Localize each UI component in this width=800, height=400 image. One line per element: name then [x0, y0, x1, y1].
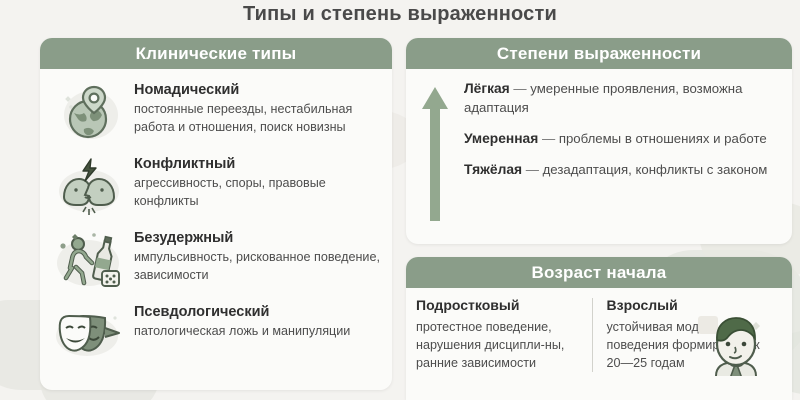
type-name: Псевдологический: [134, 303, 382, 322]
severity-name: Лёгкая: [464, 81, 510, 96]
severity-header: Степени выраженности: [406, 38, 792, 69]
list-item: Псевдологический патологическая ложь и м…: [50, 297, 382, 371]
clinical-types-header: Клинические типы: [40, 38, 392, 69]
age-of-onset-card: Возраст начала Подростковый протестное п…: [406, 257, 792, 400]
type-description: патологическая ложь и манипуляции: [134, 323, 382, 341]
list-item: Лёгкая — умеренные проявления, возможна …: [464, 79, 780, 117]
age-column-title: Подростковый: [416, 296, 582, 315]
theater-masks-icon: [52, 301, 126, 367]
severity-dash: —: [526, 162, 539, 177]
list-item: Безудержный импульсивность, рискованное …: [50, 223, 382, 297]
list-item: Конфликтный агрессивность, споры, правов…: [50, 149, 382, 223]
arguing-heads-icon: [52, 153, 126, 219]
age-of-onset-body: Подростковый протестное поведение, наруш…: [406, 288, 792, 372]
severity-description: проблемы в отношениях и работе: [559, 131, 767, 146]
severity-card: Степени выраженности Лёгкая — умеренные …: [406, 38, 792, 244]
list-item: Номадический постоянные переезды, нестаб…: [50, 75, 382, 149]
severity-name: Тяжёлая: [464, 162, 522, 177]
page-title: Типы и степень выраженности: [0, 3, 800, 26]
list-item-text: Конфликтный агрессивность, споры, правов…: [134, 153, 382, 210]
up-arrow-icon: [418, 79, 452, 223]
severity-dash: —: [513, 81, 526, 96]
age-of-onset-header: Возраст начала: [406, 257, 792, 288]
type-description: импульсивность, рискованное поведение, з…: [134, 249, 382, 284]
age-column-adolescent: Подростковый протестное поведение, наруш…: [416, 296, 592, 372]
type-name: Номадический: [134, 81, 382, 100]
severity-dash: —: [542, 131, 555, 146]
list-item-text: Псевдологический патологическая ложь и м…: [134, 301, 382, 341]
type-description: постоянные переезды, нестабильная работа…: [134, 101, 382, 136]
age-column-title: Взрослый: [607, 296, 773, 315]
age-column-description: протестное поведение, нарушения дисципли…: [416, 318, 582, 372]
clinical-types-body: Номадический постоянные переезды, нестаб…: [40, 69, 392, 379]
type-name: Безудержный: [134, 229, 382, 248]
type-name: Конфликтный: [134, 155, 382, 174]
list-item: Тяжёлая — дезадаптация, конфликты с зако…: [464, 160, 780, 179]
list-item-text: Номадический постоянные переезды, нестаб…: [134, 79, 382, 136]
type-description: агрессивность, споры, правовые конфликты: [134, 175, 382, 210]
list-item-text: Безудержный импульсивность, рискованное …: [134, 227, 382, 284]
clinical-types-card: Клинические типы Номадический по: [40, 38, 392, 390]
running-bottle-dice-icon: [52, 227, 126, 293]
severity-body: Лёгкая — умеренные проявления, возможна …: [406, 69, 792, 229]
adult-man-face-icon: [694, 314, 786, 376]
severity-list: Лёгкая — умеренные проявления, возможна …: [464, 79, 780, 223]
severity-description: дезадаптация, конфликты с законом: [543, 162, 768, 177]
list-item: Умеренная — проблемы в отношениях и рабо…: [464, 129, 780, 148]
globe-pin-icon: [52, 79, 126, 145]
severity-name: Умеренная: [464, 131, 538, 146]
